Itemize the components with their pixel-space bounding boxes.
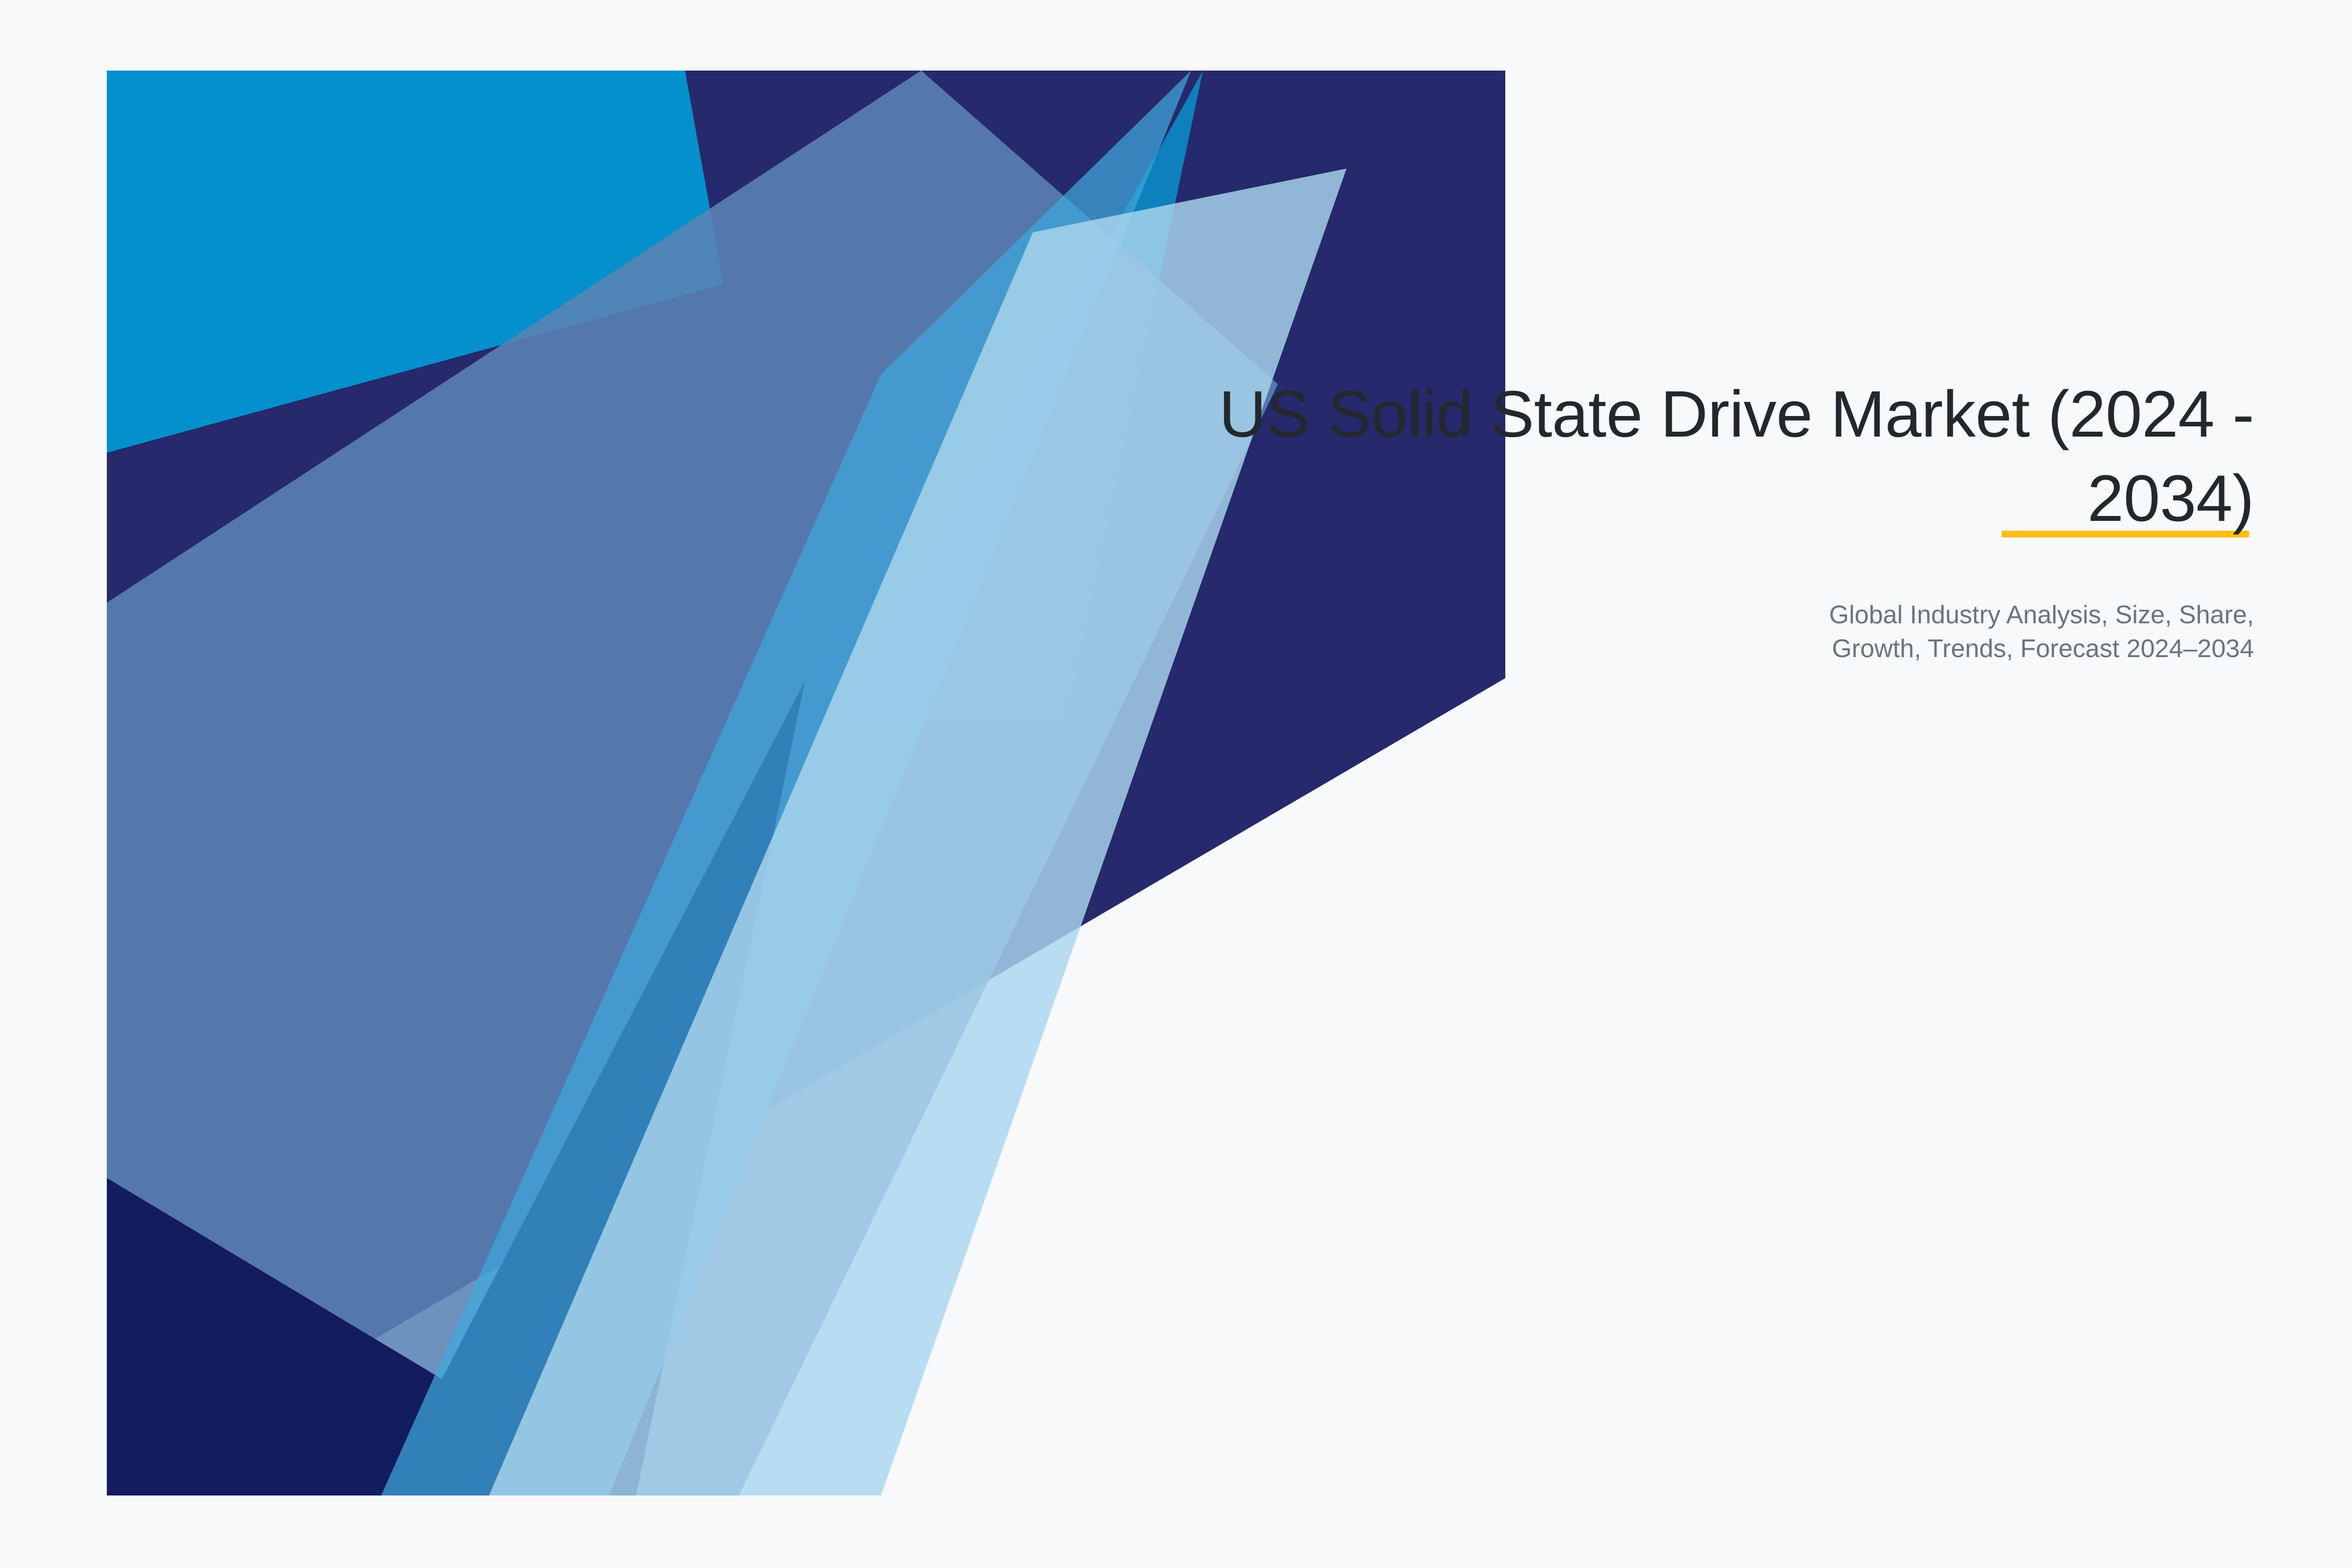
cover-artwork bbox=[107, 71, 1505, 1495]
page-subtitle-line-2: Growth, Trends, Forecast 2024–2034 bbox=[1832, 635, 2254, 663]
slide-root: US Solid State Drive Market (2024 -2034)… bbox=[0, 0, 2352, 1568]
page-title: US Solid State Drive Market (2024 -2034) bbox=[833, 372, 2254, 540]
artwork-svg bbox=[107, 71, 1505, 1495]
page-title-line-2: 2034) bbox=[2087, 462, 2254, 535]
cover-text-block: US Solid State Drive Market (2024 -2034)… bbox=[833, 372, 2254, 665]
page-subtitle: Global Industry Analysis, Size, Share,Gr… bbox=[1641, 598, 2254, 665]
page-subtitle-line-1: Global Industry Analysis, Size, Share, bbox=[1829, 601, 2254, 629]
page-title-line-1: US Solid State Drive Market (2024 - bbox=[1219, 378, 2254, 451]
